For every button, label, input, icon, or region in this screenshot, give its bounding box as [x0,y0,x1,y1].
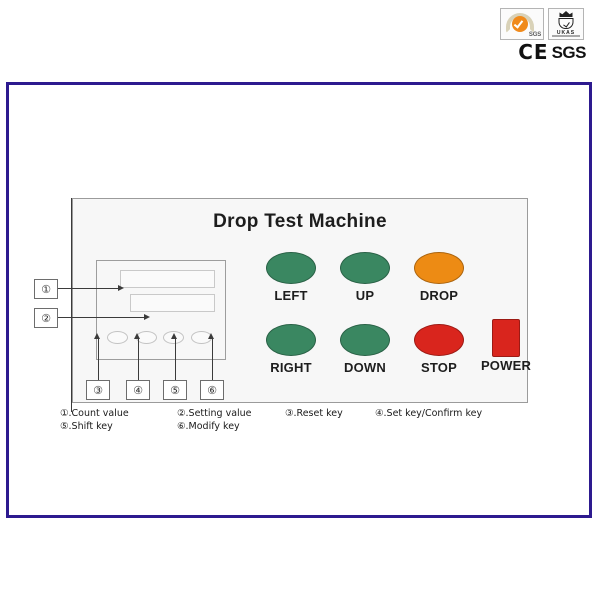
ukas-badge-icon: UKAS [548,8,584,40]
button-right[interactable]: RIGHT [252,324,330,375]
screenshot-root: SGS UKAS CE SGS Drop Test Machine [0,0,600,600]
legend-item-modify-key: ⑥.Modify key [177,421,240,432]
certification-wordmark-row: CE SGS [500,42,586,62]
callout-marker-4: ④ [126,380,150,400]
leader-arrow-3-icon [94,333,100,339]
legend-row-2: ⑤.Shift key ⑥.Modify key [60,421,530,434]
button-stop-lamp-icon[interactable] [414,324,464,356]
callout-marker-6: ⑥ [200,380,224,400]
controller-module [96,260,226,360]
certification-badge-row: SGS UKAS [500,8,586,40]
button-power-label: POWER [467,358,545,373]
legend-item-count-value: ①.Count value [60,408,129,419]
ce-mark-label: CE [518,42,548,62]
button-down[interactable]: DOWN [326,324,404,375]
leader-arrow-4-icon [134,333,140,339]
leader-arrow-6-icon [208,333,214,339]
legend-item-set-confirm-key: ④.Set key/Confirm key [375,408,482,419]
leader-line-5 [175,338,176,380]
callout-marker-5: ⑤ [163,380,187,400]
button-power-switch-icon[interactable] [492,319,520,357]
callout-marker-2: ② [34,308,58,328]
button-drop[interactable]: DROP [400,252,478,303]
legend-item-setting-value: ②.Setting value [177,408,252,419]
button-right-lamp-icon[interactable] [266,324,316,356]
page-title: Drop Test Machine [73,211,527,233]
legend: ①.Count value ②.Setting value ③.Reset ke… [60,408,530,434]
button-down-lamp-icon[interactable] [340,324,390,356]
certification-logos: SGS UKAS CE SGS [500,8,586,62]
leader-line-6 [212,338,213,380]
callout-marker-1: ① [34,279,58,299]
button-left-lamp-icon[interactable] [266,252,316,284]
sgs-iso-badge-icon: SGS [500,8,544,40]
leader-line-4 [138,338,139,380]
button-drop-lamp-icon[interactable] [414,252,464,284]
button-right-label: RIGHT [252,360,330,375]
button-left-label: LEFT [252,288,330,303]
callout-marker-3: ③ [86,380,110,400]
ukas-fineprint [552,35,580,37]
leader-line-3 [98,338,99,380]
button-up-label: UP [326,288,404,303]
legend-item-shift-key: ⑤.Shift key [60,421,113,432]
button-up[interactable]: UP [326,252,404,303]
setting-value-display [130,294,215,312]
button-up-lamp-icon[interactable] [340,252,390,284]
leader-arrow-5-icon [171,333,177,339]
button-power[interactable]: POWER [467,319,545,373]
leader-arrow-1-icon [118,285,124,291]
leader-line-2 [58,317,146,318]
ukas-crown-icon [560,11,573,17]
leader-arrow-2-icon [144,314,150,320]
button-drop-label: DROP [400,288,478,303]
controller-key-reset[interactable] [107,331,128,344]
legend-row-1: ①.Count value ②.Setting value ③.Reset ke… [60,408,530,421]
legend-item-reset-key: ③.Reset key [285,408,343,419]
ukas-checkmark-icon [563,20,570,27]
sgs-badge-label: SGS [529,32,541,38]
leader-line-1 [58,288,120,289]
sgs-wordmark-label: SGS [552,44,586,61]
count-value-display [120,270,215,288]
ukas-shield-icon [559,18,574,29]
button-down-label: DOWN [326,360,404,375]
button-left[interactable]: LEFT [252,252,330,303]
